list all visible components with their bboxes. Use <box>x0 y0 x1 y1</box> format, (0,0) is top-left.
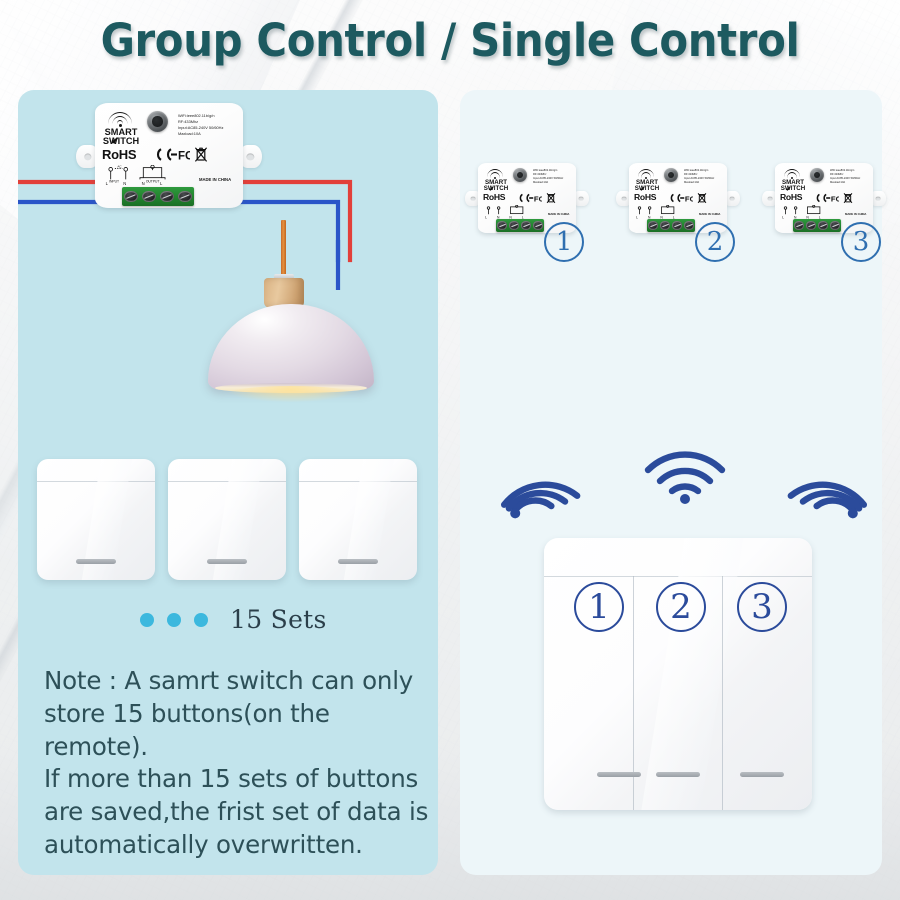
rohs-label: RoHS <box>634 192 656 202</box>
made-in-label: MADE IN CHINA <box>699 212 720 216</box>
svg-text:L: L <box>636 216 638 220</box>
wifi-icon <box>637 169 655 179</box>
module-brand: SMART SWITCH <box>101 128 141 146</box>
svg-text:L: L <box>782 216 784 220</box>
rohs-mark: RoHS ✔ <box>102 147 136 162</box>
set-dot-3 <box>194 613 208 627</box>
brand-line-2: SWITCH <box>103 136 139 146</box>
wall-switch-2[interactable] <box>168 459 286 580</box>
svg-text:FC: FC <box>178 151 190 163</box>
led-indicator <box>338 559 378 564</box>
wifi-icon <box>107 112 133 126</box>
module-specs: WiFi:ieee802.11b/g/n RF:433Mhz Input:AC8… <box>533 169 563 185</box>
weee-bin-icon <box>194 146 208 163</box>
module-number-3: ③3 <box>841 222 881 262</box>
module-brand: SMART SWITCH <box>482 180 510 192</box>
led-indicator-3 <box>740 772 784 777</box>
certification-marks: FC <box>515 192 556 204</box>
module-brand: SMART SWITCH <box>633 180 661 192</box>
svg-text:INPUT: INPUT <box>109 179 119 183</box>
made-in-label: MADE IN CHINA <box>199 177 231 182</box>
terminal-wiring-diagram: L N N L <box>781 205 843 220</box>
ce-mark-icon: FC <box>812 192 839 204</box>
terminal-block <box>496 219 544 232</box>
svg-text:L: L <box>485 216 487 220</box>
made-in-label: MADE IN CHINA <box>845 212 866 216</box>
wall-switch-3[interactable] <box>299 459 417 580</box>
svg-text:FC: FC <box>534 194 542 203</box>
led-indicator-2 <box>656 772 700 777</box>
svg-text:AC: AC <box>117 165 122 169</box>
rohs-label: RoHS <box>483 192 505 202</box>
push-button-icon[interactable] <box>664 168 678 182</box>
wifi-icon <box>783 169 801 179</box>
three-gang-wall-switch[interactable]: 1 2 3 <box>544 538 812 810</box>
check-icon: ✔ <box>640 185 645 193</box>
ce-mark-icon: FC <box>515 192 542 204</box>
certification-marks: FC <box>812 192 853 204</box>
svg-text:L: L <box>160 181 163 186</box>
module-specs: WiFi:ieee802.11b/g/n RF:433Mhz Input:AC8… <box>830 169 860 185</box>
svg-text:FC: FC <box>685 194 693 203</box>
terminal-wiring-diagram: L N N L <box>484 205 546 220</box>
push-button-icon[interactable] <box>810 168 824 182</box>
made-in-label: MADE IN CHINA <box>548 212 569 216</box>
certification-marks: FC <box>666 192 707 204</box>
ce-mark-icon: FC <box>150 146 190 163</box>
led-indicator <box>76 559 116 564</box>
certification-marks: FC <box>150 146 208 163</box>
terminal-wiring-diagram: L N N L INPUT OUTPUT AC <box>104 165 196 187</box>
ce-mark-icon: FC <box>666 192 693 204</box>
brand-line-2: SWITCH <box>635 185 659 192</box>
svg-text:FC: FC <box>831 194 839 203</box>
terminal-block <box>122 187 194 206</box>
pendant-lamp <box>208 272 374 400</box>
switch-sheen <box>637 538 746 810</box>
weee-bin-icon <box>546 192 556 204</box>
switch-seam <box>168 481 286 482</box>
push-button-icon[interactable] <box>513 168 527 182</box>
terminal-block <box>647 219 695 232</box>
wifi-icon <box>486 169 504 179</box>
check-icon: ✔ <box>489 185 494 193</box>
check-icon: ✔ <box>786 185 791 193</box>
set-dot-1 <box>140 613 154 627</box>
rohs-label: RoHS <box>102 147 136 162</box>
rohs-label: RoHS <box>780 192 802 202</box>
weee-bin-icon <box>843 192 853 204</box>
svg-text:N: N <box>142 181 145 186</box>
smart-switch-module-main[interactable]: SMART SWITCH WiFi:ieee802.11b/g/n RF:433… <box>95 103 243 208</box>
module-number-2: ②2 <box>695 222 735 262</box>
gang-number-3[interactable]: 3 <box>737 582 787 632</box>
check-icon: ✔ <box>111 136 119 147</box>
set-dot-2 <box>167 613 181 627</box>
svg-text:N: N <box>123 181 126 186</box>
lamp-shade <box>208 304 374 390</box>
sets-label: 15 Sets <box>230 605 327 634</box>
rohs-mark: RoHS ✔ <box>780 192 802 202</box>
brand-line-2: SWITCH <box>781 185 805 192</box>
wifi-signal-center <box>642 446 728 506</box>
gang-number-2[interactable]: 2 <box>656 582 706 632</box>
module-brand: SMART SWITCH <box>779 180 807 192</box>
rohs-mark: RoHS ✔ <box>483 192 505 202</box>
weee-bin-icon <box>697 192 707 204</box>
led-indicator <box>207 559 247 564</box>
lamp-glow <box>226 386 356 402</box>
rohs-mark: RoHS ✔ <box>634 192 656 202</box>
svg-text:OUTPUT: OUTPUT <box>146 179 160 183</box>
module-number-1: ①1 <box>544 222 584 262</box>
switch-seam <box>37 481 155 482</box>
module-specs: WiFi:ieee802.11b/g/n RF:433Mhz Input:AC8… <box>178 113 223 137</box>
page-title: Group Control / Single Control <box>32 14 869 67</box>
push-button-icon[interactable] <box>147 111 168 132</box>
terminal-block <box>793 219 841 232</box>
note-text: Note : A samrt switch can only store 15 … <box>44 665 434 862</box>
sets-indicator: 15 Sets <box>140 605 327 634</box>
gang-separator-2 <box>722 576 723 810</box>
led-indicator-1 <box>597 772 641 777</box>
module-specs: WiFi:ieee802.11b/g/n RF:433Mhz Input:AC8… <box>684 169 714 185</box>
lamp-cord <box>281 220 286 276</box>
switch-seam <box>299 481 417 482</box>
wall-switch-1[interactable] <box>37 459 155 580</box>
brand-line-2: SWITCH <box>484 185 508 192</box>
terminal-wiring-diagram: L N N L <box>635 205 697 220</box>
gang-number-1[interactable]: 1 <box>574 582 624 632</box>
